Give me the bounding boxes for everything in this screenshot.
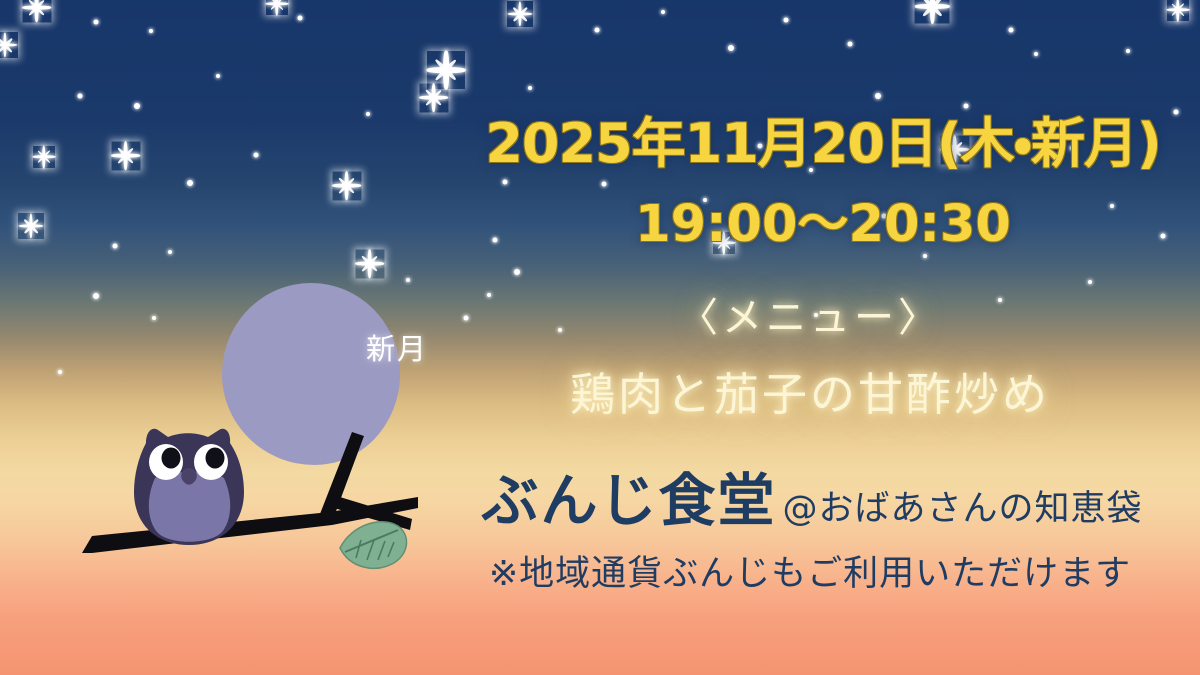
menu-heading: 〈メニュー〉: [678, 285, 942, 343]
menu-dish-name: 鶏肉と茄子の甘酢炒め: [570, 358, 1050, 423]
brand-title-subtitle: @おばあさんの知恵袋: [782, 480, 1142, 531]
event-date: 2025年11月20日(木・新月): [485, 99, 1160, 178]
new-moon-label: 新月: [366, 326, 428, 368]
new-moon-disc: [222, 283, 400, 465]
brand-title-main: ぶんじ食堂: [481, 455, 776, 537]
event-time: 19:00〜20:30: [635, 182, 1011, 256]
local-currency-note: ※地域通貨ぶんじもご利用いただけます: [489, 545, 1131, 596]
brand-title-row: ぶんじ食堂 @おばあさんの知恵袋: [481, 455, 1142, 537]
poster-canvas: 新月 2025年11月20日(木・新月) 19:00〜20:30 〈メニュー〉 …: [0, 0, 1200, 675]
